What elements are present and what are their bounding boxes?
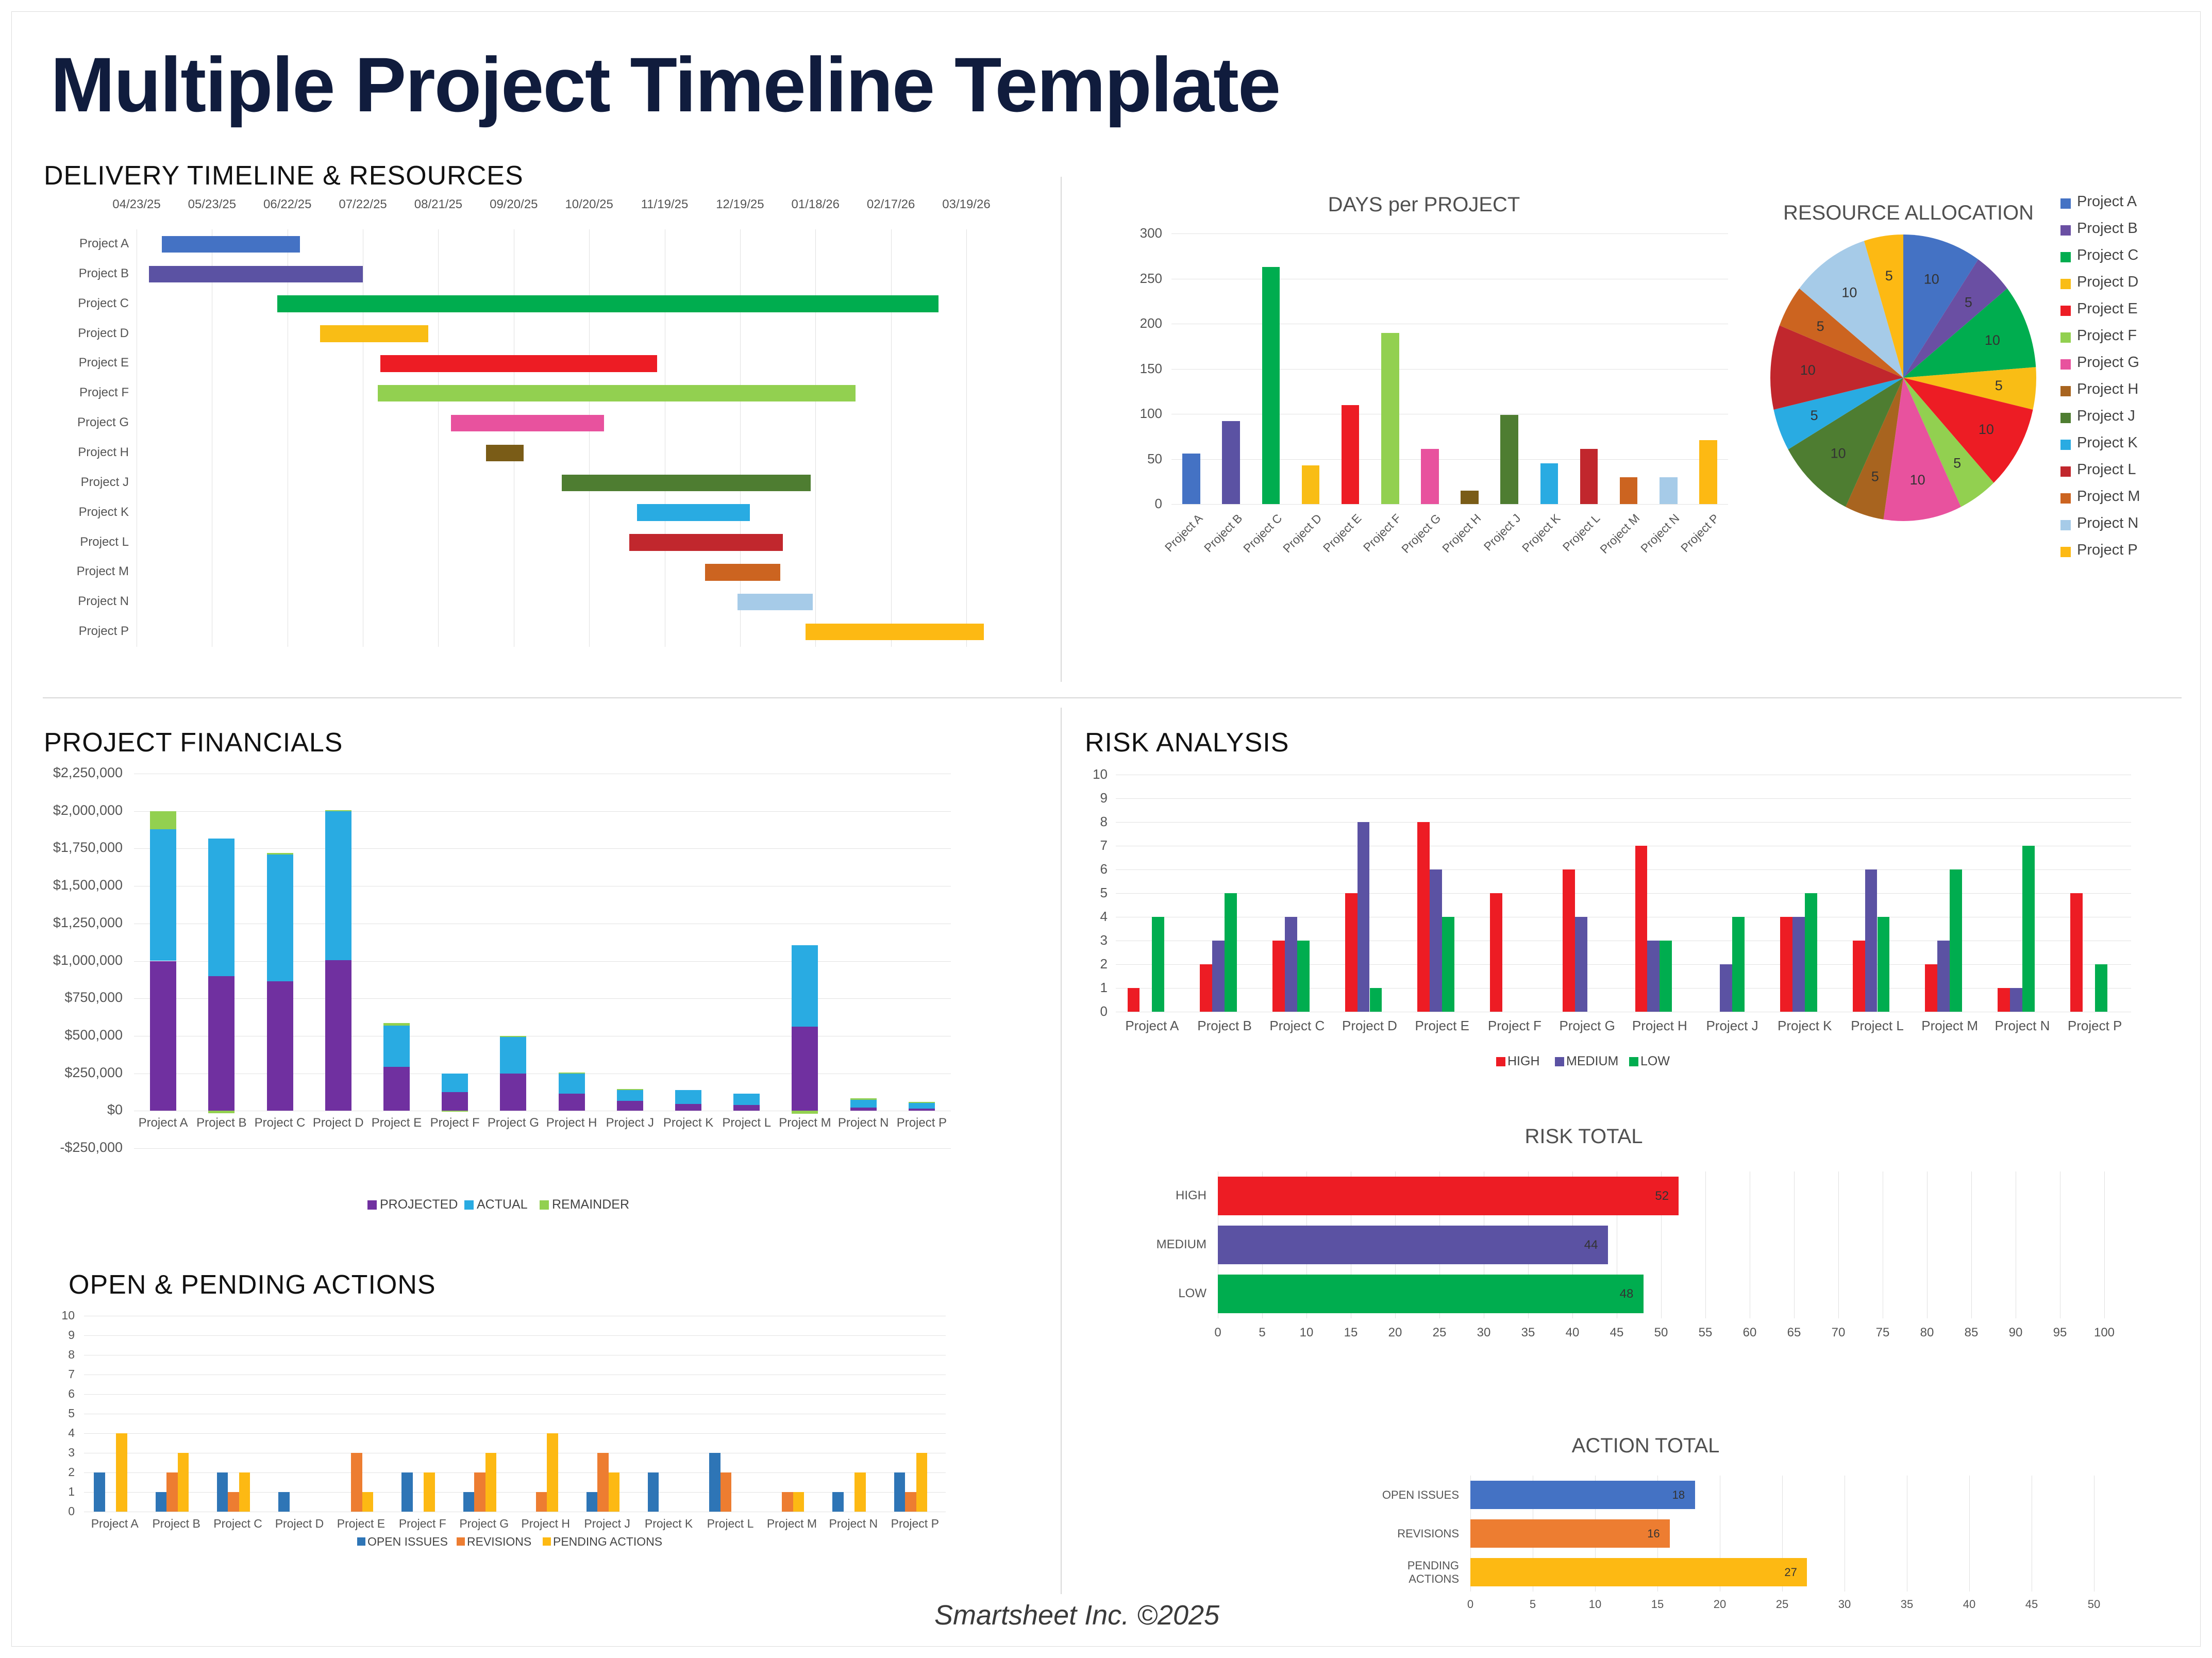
financials-segment[interactable] <box>850 1098 877 1100</box>
gantt-bar[interactable] <box>162 236 300 253</box>
gantt-bar[interactable] <box>806 624 984 640</box>
x-tick-label: Project F <box>1479 1018 1551 1034</box>
gantt-bar[interactable] <box>378 385 856 401</box>
legend-label: Project E <box>2077 300 2138 317</box>
y-tick-label: 8 <box>1085 814 1108 830</box>
actions-bar[interactable] <box>424 1472 434 1512</box>
divider-vertical-top <box>1061 177 1062 682</box>
risk-bar[interactable] <box>1878 917 1890 1012</box>
gridline <box>84 1394 946 1395</box>
y-tick-label: HIGH <box>1146 1188 1206 1203</box>
y-tick-label: 50 <box>1120 451 1162 467</box>
financials-segment[interactable] <box>267 855 293 981</box>
gridline <box>1845 1476 1845 1592</box>
x-tick-label: Project E <box>367 1116 426 1130</box>
gridline <box>1116 775 2131 775</box>
gridline <box>1838 1171 1839 1318</box>
actions-bar[interactable] <box>597 1453 608 1512</box>
gantt-bar[interactable] <box>637 504 750 521</box>
financials-segment[interactable] <box>325 811 351 960</box>
risk-bar[interactable] <box>1442 917 1454 1012</box>
days-bar[interactable] <box>1580 449 1598 504</box>
x-tick-label: Project H <box>1408 511 1483 587</box>
actions-bar[interactable] <box>709 1453 720 1512</box>
actions-bar[interactable] <box>228 1492 239 1512</box>
gridline <box>1116 1012 2131 1012</box>
legend-swatch <box>2060 440 2071 450</box>
x-tick-label: Project D <box>309 1116 367 1130</box>
x-tick-label: Project D <box>269 1517 330 1531</box>
gantt-row-label: Project J <box>44 475 129 490</box>
gantt-axis-date: 03/19/26 <box>936 197 996 212</box>
legend-swatch <box>1629 1057 1638 1066</box>
actions-bar[interactable] <box>178 1453 189 1512</box>
financials-segment[interactable] <box>909 1102 935 1103</box>
gantt-row-label: Project H <box>44 445 129 460</box>
gantt-row-label: Project F <box>44 386 129 400</box>
pie-svg[interactable]: 105105105105105105105 <box>1764 233 2042 522</box>
actions-bar[interactable] <box>905 1492 916 1512</box>
action-total-bar[interactable] <box>1470 1519 1670 1548</box>
x-tick-label: Project B <box>1188 1018 1261 1034</box>
actions-bar[interactable] <box>609 1472 619 1512</box>
x-tick-label: 55 <box>1690 1326 1721 1340</box>
gridline <box>1116 893 2131 894</box>
financials-segment[interactable] <box>733 1105 760 1111</box>
pie-slice-value: 5 <box>1871 468 1879 484</box>
risk-bar[interactable] <box>1853 941 1865 1012</box>
y-tick-label: 5 <box>44 1406 75 1420</box>
gantt-axis-date: 04/23/25 <box>107 197 166 212</box>
y-tick-label: MEDIUM <box>1146 1237 1206 1252</box>
actions-bar[interactable] <box>239 1472 250 1512</box>
gantt-gridline <box>137 229 137 647</box>
gantt-row-label: Project G <box>44 415 129 430</box>
gantt-bar[interactable] <box>149 266 363 282</box>
days-bar[interactable] <box>1421 449 1439 504</box>
x-tick-label: Project A <box>134 1116 192 1130</box>
risk-bar[interactable] <box>1925 964 1937 1012</box>
gantt-row-label: Project K <box>44 505 129 520</box>
risk-bar[interactable] <box>1635 846 1648 1012</box>
legend-swatch <box>357 1537 365 1546</box>
bar-value-label: 27 <box>1784 1566 1797 1579</box>
gantt-bar[interactable] <box>705 564 780 580</box>
x-tick-label: 0 <box>1455 1598 1486 1611</box>
gantt-gridline <box>288 229 288 647</box>
actions-bar[interactable] <box>156 1492 166 1512</box>
financials-segment[interactable] <box>617 1090 643 1101</box>
legend-swatch <box>2060 493 2071 504</box>
divider-vertical-bottom <box>1061 708 1062 1594</box>
legend-swatch <box>2060 520 2071 530</box>
actions-bar[interactable] <box>166 1472 177 1512</box>
days-bar[interactable] <box>1262 267 1280 504</box>
actions-bar[interactable] <box>278 1492 289 1512</box>
x-tick-label: Project C <box>1210 511 1285 587</box>
y-tick-label: 2 <box>44 1465 75 1479</box>
financials-segment[interactable] <box>500 1036 526 1037</box>
financials-segment[interactable] <box>442 1074 468 1092</box>
resource-allocation-pie[interactable]: 105105105105105105105 <box>1764 233 2042 522</box>
gridline <box>134 848 951 849</box>
actions-bar[interactable] <box>401 1472 412 1512</box>
gantt-bar[interactable] <box>380 355 657 372</box>
actions-bar[interactable] <box>720 1472 731 1512</box>
x-tick-label: 75 <box>1867 1326 1898 1340</box>
risk-bar[interactable] <box>1430 869 1442 1012</box>
risk-total-bar[interactable] <box>1218 1275 1644 1313</box>
financials-segment[interactable] <box>559 1094 585 1111</box>
risk-analysis-chart[interactable]: 012345678910Project AProject BProject CP… <box>1085 769 2131 1058</box>
days-bar[interactable] <box>1381 333 1399 505</box>
risk-bar[interactable] <box>1575 917 1587 1012</box>
financials-segment[interactable] <box>383 1023 410 1025</box>
x-tick-label: 30 <box>1468 1326 1499 1340</box>
financials-segment[interactable] <box>442 1111 468 1112</box>
risk-bar[interactable] <box>1732 917 1745 1012</box>
actions-bar[interactable] <box>586 1492 597 1512</box>
y-tick-label: $0 <box>44 1102 123 1118</box>
gantt-bar[interactable] <box>277 295 939 312</box>
days-bar[interactable] <box>1342 405 1360 505</box>
gantt-bar[interactable] <box>486 445 524 461</box>
x-tick-label: 5 <box>1247 1326 1278 1340</box>
risk-total-bar[interactable] <box>1218 1177 1679 1215</box>
legend-label: HIGH <box>1507 1054 1540 1069</box>
gridline <box>84 1492 946 1493</box>
risk-bar[interactable] <box>1200 964 1212 1012</box>
y-tick-label: 7 <box>44 1367 75 1381</box>
x-tick-label: 95 <box>2045 1326 2075 1340</box>
risk-bar[interactable] <box>1128 988 1140 1012</box>
gantt-axis-date: 08/21/25 <box>408 197 468 212</box>
actions-bar[interactable] <box>894 1472 905 1512</box>
gridline <box>84 1335 946 1336</box>
days-per-project-chart[interactable]: 050100150200250300Project AProject BProj… <box>1120 223 1728 584</box>
risk-bar[interactable] <box>1950 869 1962 1012</box>
actions-bar[interactable] <box>793 1492 804 1512</box>
gridline <box>2060 1171 2060 1318</box>
gantt-bar[interactable] <box>320 325 428 342</box>
financials-segment[interactable] <box>792 1111 818 1113</box>
x-tick-label: Project D <box>1249 511 1325 587</box>
actions-bar[interactable] <box>916 1453 927 1512</box>
gantt-gridline <box>815 229 816 647</box>
x-tick-label: Project C <box>1261 1018 1333 1034</box>
financials-segment[interactable] <box>383 1067 410 1111</box>
gantt-gridline <box>740 229 741 647</box>
y-tick-label: 6 <box>44 1387 75 1401</box>
x-tick-label: Project L <box>717 1116 776 1130</box>
gantt-chart[interactable]: 04/23/2505/23/2506/22/2507/22/2508/21/25… <box>44 197 966 651</box>
actions-bar[interactable] <box>782 1492 793 1512</box>
legend-label: REVISIONS <box>467 1535 531 1549</box>
risk-bar[interactable] <box>2010 988 2022 1012</box>
actions-bar[interactable] <box>832 1492 843 1512</box>
gridline <box>1171 414 1728 414</box>
y-tick-label: $250,000 <box>44 1065 123 1081</box>
gridline <box>84 1355 946 1355</box>
x-tick-label: 60 <box>1734 1326 1765 1340</box>
action-total-chart[interactable]: 0510152025303540455018OPEN ISSUES16REVIS… <box>1378 1465 2125 1635</box>
gantt-axis-date: 12/19/25 <box>710 197 770 212</box>
gridline <box>134 1148 951 1149</box>
x-tick-label: Project C <box>207 1517 269 1531</box>
y-tick-label: 3 <box>44 1446 75 1460</box>
legend-label: Project B <box>2077 220 2138 237</box>
gantt-bar[interactable] <box>738 594 813 610</box>
legend-label: Project D <box>2077 274 2138 291</box>
x-tick-label: Project H <box>515 1517 576 1531</box>
risk-bar[interactable] <box>1998 988 2010 1012</box>
financials-segment[interactable] <box>325 810 351 811</box>
gantt-gridline <box>438 229 439 647</box>
actions-bar[interactable] <box>362 1492 373 1512</box>
legend-label: PROJECTED <box>380 1197 458 1212</box>
financials-segment[interactable] <box>850 1100 877 1108</box>
x-tick-label: Project L <box>699 1517 761 1531</box>
x-tick-label: Project M <box>1567 511 1643 587</box>
gridline <box>84 1375 946 1375</box>
gantt-axis-date: 11/19/25 <box>635 197 695 212</box>
gridline <box>1116 798 2131 799</box>
gantt-gridline <box>665 229 665 647</box>
financials-legend: PROJECTEDACTUALREMAINDER <box>367 1197 687 1218</box>
days-bar[interactable] <box>1660 477 1678 505</box>
risk-bar[interactable] <box>1865 869 1878 1012</box>
financials-segment[interactable] <box>909 1109 935 1111</box>
x-tick-label: 100 <box>2089 1326 2120 1340</box>
legend-swatch <box>543 1537 551 1546</box>
financials-segment[interactable] <box>792 1027 818 1111</box>
gridline <box>1171 233 1728 234</box>
financials-segment[interactable] <box>150 811 176 829</box>
y-tick-label: 4 <box>1085 909 1108 925</box>
gantt-bar[interactable] <box>629 534 783 550</box>
y-tick-label: 1 <box>1085 980 1108 996</box>
risk-bar[interactable] <box>2070 893 2083 1012</box>
financials-segment[interactable] <box>733 1094 760 1106</box>
legend-swatch <box>457 1537 465 1546</box>
risk-total-chart[interactable]: 0510152025303540455055606570758085909510… <box>1146 1161 2120 1378</box>
pie-slice-value: 10 <box>1985 332 2000 348</box>
gantt-row-label: Project P <box>44 624 129 639</box>
financials-segment[interactable] <box>325 960 351 1111</box>
financials-segment[interactable] <box>559 1073 585 1074</box>
financials-segment[interactable] <box>675 1104 701 1111</box>
chart-title-risk-total: RISK TOTAL <box>1403 1125 1764 1148</box>
actions-legend: OPEN ISSUESREVISIONSPENDING ACTIONS <box>357 1535 666 1555</box>
financials-segment[interactable] <box>617 1089 643 1090</box>
risk-bar[interactable] <box>1285 917 1297 1012</box>
legend-swatch <box>2060 386 2071 396</box>
financials-segment[interactable] <box>442 1092 468 1111</box>
x-tick-label: Project D <box>1333 1018 1406 1034</box>
risk-bar[interactable] <box>1720 964 1732 1012</box>
gridline <box>134 924 951 924</box>
financials-segment[interactable] <box>267 853 293 855</box>
gridline <box>2104 1171 2105 1318</box>
financials-segment[interactable] <box>383 1026 410 1067</box>
days-bar[interactable] <box>1540 463 1559 504</box>
actions-bar[interactable] <box>116 1433 127 1512</box>
risk-bar[interactable] <box>1272 941 1285 1012</box>
risk-bar[interactable] <box>1490 893 1502 1012</box>
risk-bar[interactable] <box>1937 941 1950 1012</box>
days-bar[interactable] <box>1302 465 1320 504</box>
gridline <box>1171 369 1728 370</box>
financials-segment[interactable] <box>500 1074 526 1111</box>
gantt-axis-date: 10/20/25 <box>559 197 619 212</box>
days-bar[interactable] <box>1461 491 1479 504</box>
days-bar[interactable] <box>1699 440 1717 504</box>
actions-bar[interactable] <box>854 1472 865 1512</box>
risk-legend: HIGHMEDIUMLOW <box>1496 1054 1718 1075</box>
financials-segment[interactable] <box>850 1108 877 1111</box>
x-tick-label: 10 <box>1291 1326 1322 1340</box>
y-tick-label: LOW <box>1146 1286 1206 1301</box>
risk-total-bar[interactable] <box>1218 1226 1608 1264</box>
risk-bar[interactable] <box>1345 893 1358 1012</box>
risk-bar[interactable] <box>1152 917 1164 1012</box>
action-total-bar[interactable] <box>1470 1558 1807 1587</box>
days-bar[interactable] <box>1620 477 1638 505</box>
pie-slice-value: 10 <box>1800 362 1816 378</box>
actions-bar[interactable] <box>94 1472 105 1512</box>
risk-bar[interactable] <box>2095 964 2107 1012</box>
x-tick-label: 85 <box>1956 1326 1987 1340</box>
legend-swatch <box>464 1200 474 1210</box>
open-pending-actions-chart[interactable]: 012345678910Project AProject BProject CP… <box>44 1311 951 1527</box>
actions-bar[interactable] <box>351 1453 362 1512</box>
gantt-bar[interactable] <box>451 415 605 431</box>
days-bar[interactable] <box>1500 415 1518 504</box>
legend-label: Project H <box>2077 381 2138 398</box>
gantt-gridline <box>891 229 892 647</box>
gridline <box>134 774 951 774</box>
risk-bar[interactable] <box>1225 893 1237 1012</box>
y-tick-label: $1,750,000 <box>44 840 123 856</box>
footer-copyright: Smartsheet Inc. ©2025 <box>934 1599 1219 1631</box>
actions-bar[interactable] <box>485 1453 496 1512</box>
legend-swatch <box>2060 332 2071 343</box>
y-tick-label: $750,000 <box>44 990 123 1006</box>
action-total-bar[interactable] <box>1470 1481 1695 1510</box>
pie-slice-value: 10 <box>1924 272 1939 287</box>
financials-segment[interactable] <box>500 1036 526 1073</box>
financials-segment[interactable] <box>909 1103 935 1109</box>
risk-bar[interactable] <box>1780 917 1792 1012</box>
y-tick-label: 0 <box>1120 496 1162 512</box>
financials-segment[interactable] <box>792 945 818 1027</box>
actions-bar[interactable] <box>547 1433 558 1512</box>
gridline <box>1969 1476 1970 1592</box>
sheet-surface: Multiple Project Timeline Template DELIV… <box>11 11 2201 1647</box>
risk-bar[interactable] <box>1358 822 1370 1012</box>
risk-bar[interactable] <box>1212 941 1225 1012</box>
gantt-gridline <box>514 229 514 647</box>
x-tick-label: Project E <box>1406 1018 1479 1034</box>
risk-bar[interactable] <box>1417 822 1430 1012</box>
x-tick-label: Project N <box>823 1517 884 1531</box>
gridline <box>1116 822 2131 823</box>
y-tick-label: OPEN ISSUES <box>1378 1488 1459 1502</box>
y-tick-label: 0 <box>1085 1003 1108 1019</box>
x-tick-label: 20 <box>1380 1326 1411 1340</box>
gantt-bar[interactable] <box>562 475 811 491</box>
gridline <box>1116 941 2131 941</box>
gantt-row-label: Project C <box>44 296 129 311</box>
gridline <box>1171 279 1728 279</box>
pie-slice-value: 5 <box>1953 455 1961 471</box>
actions-bar[interactable] <box>648 1472 659 1512</box>
risk-bar[interactable] <box>1647 941 1660 1012</box>
financials-segment[interactable] <box>559 1074 585 1094</box>
financials-segment[interactable] <box>150 961 176 1111</box>
gantt-axis-date: 07/22/25 <box>333 197 393 212</box>
x-tick-label: 35 <box>1891 1598 1922 1611</box>
risk-bar[interactable] <box>1660 941 1672 1012</box>
risk-bar[interactable] <box>1805 893 1817 1012</box>
actions-bar[interactable] <box>217 1472 228 1512</box>
page-title: Multiple Project Timeline Template <box>51 40 1280 129</box>
x-tick-label: 40 <box>1557 1326 1588 1340</box>
risk-bar[interactable] <box>1297 941 1310 1012</box>
risk-bar[interactable] <box>1792 917 1805 1012</box>
y-tick-label: 250 <box>1120 271 1162 287</box>
risk-bar[interactable] <box>1563 869 1575 1012</box>
gridline <box>1750 1171 1750 1318</box>
y-tick-label: 100 <box>1120 406 1162 422</box>
financials-segment[interactable] <box>208 976 234 1111</box>
legend-label: Project F <box>2077 327 2137 344</box>
x-tick-label: Project M <box>1914 1018 1986 1034</box>
y-tick-label: 2 <box>1085 956 1108 972</box>
actions-bar[interactable] <box>463 1492 474 1512</box>
legend-label: Project M <box>2077 488 2140 505</box>
risk-bar[interactable] <box>1370 988 1382 1012</box>
financials-segment[interactable] <box>675 1090 701 1104</box>
x-tick-label: Project P <box>1647 511 1722 587</box>
financials-segment[interactable] <box>208 839 234 976</box>
project-financials-chart[interactable]: -$250,000$0$250,000$500,000$750,000$1,00… <box>44 764 951 1213</box>
gantt-axis-date: 02/17/26 <box>861 197 921 212</box>
risk-bar[interactable] <box>2022 846 2035 1012</box>
financials-segment[interactable] <box>150 829 176 961</box>
actions-bar[interactable] <box>474 1472 485 1512</box>
gridline <box>1171 459 1728 460</box>
x-tick-label: 0 <box>1202 1326 1233 1340</box>
days-bar[interactable] <box>1182 454 1200 504</box>
chart-title-resource-allocation: RESOURCE ALLOCATION <box>1764 202 2053 225</box>
x-tick-label: Project L <box>1528 511 1603 587</box>
financials-segment[interactable] <box>267 981 293 1111</box>
x-tick-label: Project H <box>1623 1018 1696 1034</box>
days-bar[interactable] <box>1222 421 1240 504</box>
x-tick-label: Project F <box>426 1116 484 1130</box>
pie-slice-value: 10 <box>1979 422 1994 437</box>
x-tick-label: Project P <box>884 1517 946 1531</box>
x-tick-label: Project L <box>1841 1018 1914 1034</box>
y-tick-label: 1 <box>44 1485 75 1499</box>
y-tick-label: REVISIONS <box>1378 1527 1459 1540</box>
actions-bar[interactable] <box>536 1492 547 1512</box>
financials-segment[interactable] <box>617 1101 643 1111</box>
gridline <box>84 1433 946 1434</box>
x-tick-label: 65 <box>1779 1326 1809 1340</box>
financials-segment[interactable] <box>208 1111 234 1113</box>
